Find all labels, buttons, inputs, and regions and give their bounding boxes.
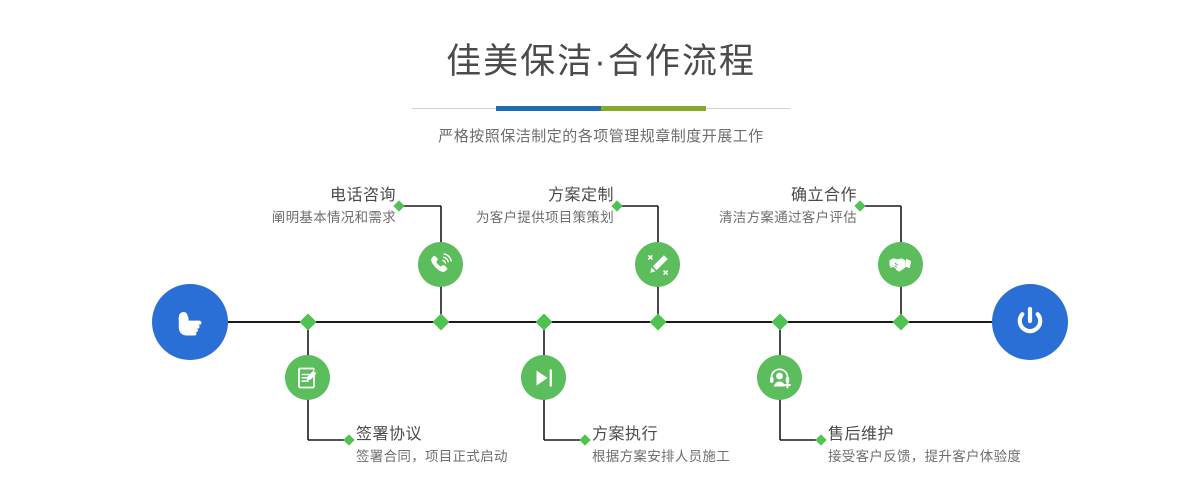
- handshake-icon: [887, 251, 914, 278]
- node-icon-after-sales[interactable]: [757, 355, 802, 400]
- label-title: 确立合作: [557, 186, 857, 206]
- flow-end-endpoint[interactable]: [992, 284, 1068, 360]
- pencil-ruler-icon: [645, 252, 671, 278]
- node-icon-plan-execute[interactable]: [521, 355, 566, 400]
- power-icon: [1010, 302, 1050, 342]
- label-title: 售后维护: [828, 425, 1168, 445]
- node-icon-plan-custom[interactable]: [635, 242, 680, 287]
- document-edit-icon: [295, 365, 321, 391]
- flow-diagram-page: 佳美保洁·合作流程 严格按照保洁制定的各项管理规章制度开展工作: [0, 0, 1202, 502]
- node-icon-confirm-cooperation[interactable]: [878, 242, 923, 287]
- customer-service-add-icon: [767, 365, 793, 391]
- node-icon-sign-agreement[interactable]: [285, 355, 330, 400]
- label-confirm-cooperation: 确立合作 清洁方案通过客户评估: [557, 186, 857, 227]
- node-icon-phone-consult[interactable]: [418, 242, 463, 287]
- diamond-node-plan: [650, 314, 667, 331]
- diamond-node-phone: [433, 314, 450, 331]
- diamond-node-aftersales: [772, 314, 789, 331]
- label-after-sales: 售后维护 接受客户反馈，提升客户体验度: [828, 425, 1168, 466]
- diamond-node-execute: [536, 314, 553, 331]
- pointing-hand-icon: [170, 302, 210, 342]
- label-diamond-sign: [343, 434, 354, 445]
- play-execute-icon: [531, 365, 557, 391]
- process-flow: 电话咨询 阐明基本情况和需求 方案定制 为客户提供项目策策划 确立合作 清洁方案…: [0, 0, 1202, 502]
- flow-start-endpoint[interactable]: [152, 284, 228, 360]
- phone-call-icon: [428, 252, 454, 278]
- label-subtitle: 接受客户反馈，提升客户体验度: [828, 447, 1168, 466]
- label-subtitle: 清洁方案通过客户评估: [557, 208, 857, 227]
- diamond-node-cooperation: [893, 314, 910, 331]
- diamond-node-sign: [300, 314, 317, 331]
